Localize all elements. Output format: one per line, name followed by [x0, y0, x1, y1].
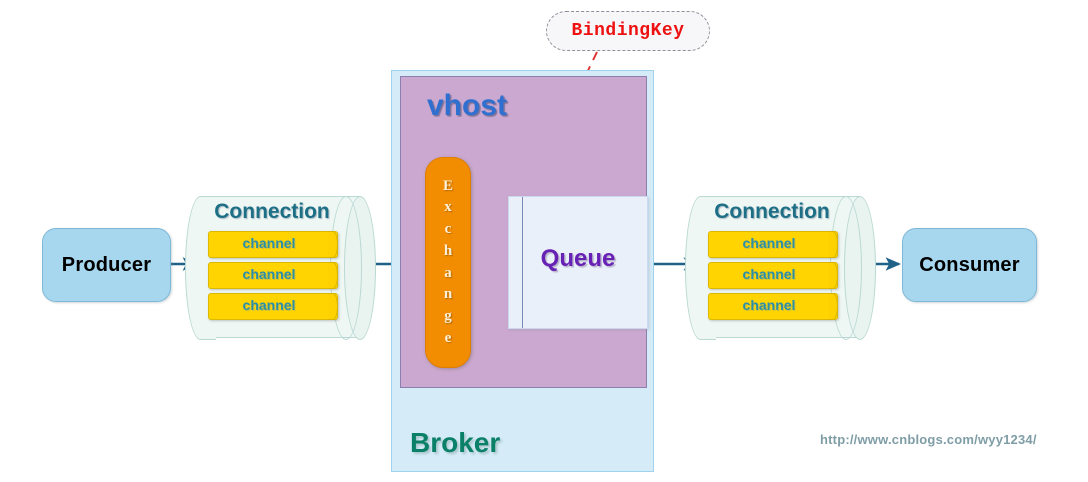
diagram-canvas: Producer Connection channel channel chan… — [0, 0, 1088, 482]
bindingkey-label: BindingKey — [571, 21, 684, 41]
channel-label: channel — [209, 297, 329, 313]
consumer-label: Consumer — [919, 254, 1020, 277]
vhost-label: vhost — [427, 89, 507, 123]
channel-item[interactable]: channel — [708, 231, 838, 258]
exchange-letter: e — [443, 328, 453, 350]
channel-label: channel — [209, 266, 329, 282]
connection-producer-label: Connection — [200, 200, 344, 224]
consumer-box[interactable]: Consumer — [902, 228, 1037, 302]
exchange-letter: c — [443, 219, 453, 241]
channel-label: channel — [209, 235, 329, 251]
channel-label: channel — [709, 297, 829, 313]
exchange-label: E x c h a n g e — [443, 176, 453, 350]
exchange-letter: x — [443, 197, 453, 219]
bindingkey-callout[interactable]: BindingKey — [546, 11, 710, 51]
exchange-letter: n — [443, 284, 453, 306]
channel-label: channel — [709, 266, 829, 282]
exchange-letter: h — [443, 241, 453, 263]
exchange-box[interactable]: E x c h a n g e — [425, 157, 471, 368]
channel-item[interactable]: channel — [208, 231, 338, 258]
channel-item[interactable]: channel — [208, 293, 338, 320]
connection-consumer[interactable]: Connection channel channel channel — [700, 196, 860, 338]
producer-label: Producer — [62, 254, 151, 277]
broker-label: Broker — [410, 427, 500, 459]
connection-producer[interactable]: Connection channel channel channel — [200, 196, 360, 338]
exchange-letter: E — [443, 176, 453, 198]
producer-box[interactable]: Producer — [42, 228, 171, 302]
queue-box[interactable]: Queue — [508, 196, 648, 329]
connection-consumer-label: Connection — [700, 200, 844, 224]
channel-item[interactable]: channel — [208, 262, 338, 289]
channel-item[interactable]: channel — [708, 262, 838, 289]
watermark-url: http://www.cnblogs.com/wyy1234/ — [820, 432, 1037, 447]
exchange-letter: g — [443, 306, 453, 328]
queue-label: Queue — [509, 245, 647, 273]
exchange-letter: a — [443, 263, 453, 285]
channel-label: channel — [709, 235, 829, 251]
channel-item[interactable]: channel — [708, 293, 838, 320]
